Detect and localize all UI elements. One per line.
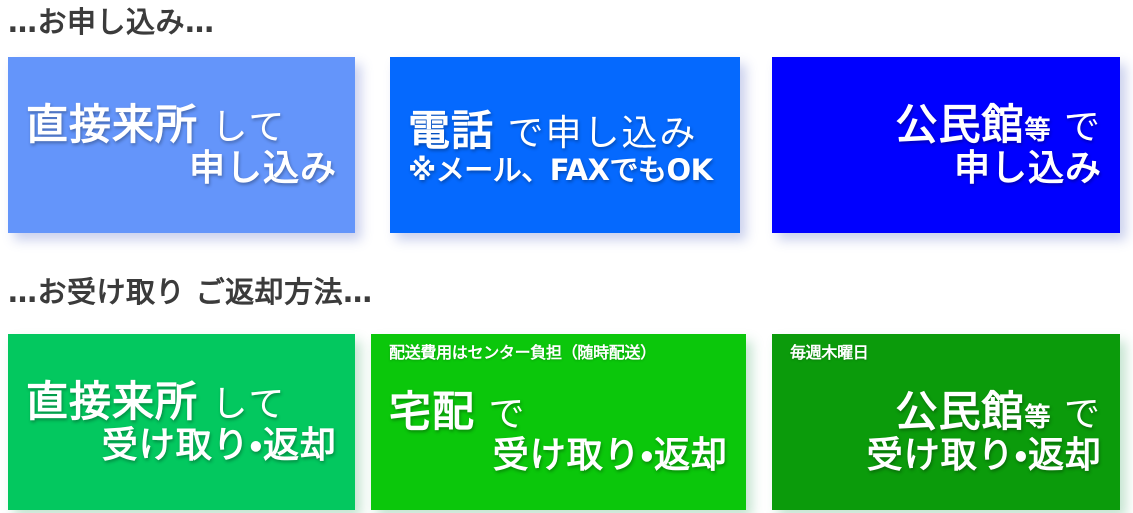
card-text-block: 電話 で申し込み ※メール、FAXでもOK	[408, 107, 722, 187]
card-line-primary-rest: で	[1051, 394, 1102, 435]
card-line-secondary: 受け取り・返却	[790, 436, 1102, 476]
card-line-primary-rest: で	[475, 394, 526, 435]
card-line-primary-rest: して	[198, 107, 286, 148]
card-keyword: 直接来所	[26, 377, 198, 426]
card-keyword: 公民館	[896, 100, 1025, 149]
infographic-page: …お申し込み… 直接来所 して 申し込み 電話 で申し込み ※メール、FAXでも…	[0, 0, 1133, 513]
card-line-primary-rest: して	[198, 384, 286, 425]
card-note: 毎週木曜日	[790, 345, 1110, 361]
card-line-secondary: 受け取り・返却	[389, 436, 728, 476]
card-text-block: 直接来所 して 申し込み	[26, 101, 337, 189]
card-row-return: 直接来所 して 受け取り・返却 配送費用はセンター負担（随時配送） 宅配 で 受…	[0, 334, 1133, 510]
card-apply-phone[interactable]: 電話 で申し込み ※メール、FAXでもOK	[390, 57, 740, 233]
card-keyword: 公民館	[896, 387, 1025, 436]
card-text-block: 宅配 で 受け取り・返却	[389, 388, 728, 476]
card-apply-community-hall[interactable]: 公民館等 で 申し込み	[772, 57, 1120, 233]
card-line-primary: 直接来所 して	[26, 378, 337, 425]
card-keyword: 宅配	[389, 387, 475, 436]
card-row-application: 直接来所 して 申し込み 電話 で申し込み ※メール、FAXでもOK 公民館等 …	[0, 57, 1133, 233]
card-return-community-hall[interactable]: 毎週木曜日 公民館等 で 受け取り・返却	[772, 334, 1120, 510]
card-line-secondary: 受け取り・返却	[26, 426, 337, 466]
section-heading-application: …お申し込み…	[8, 8, 215, 37]
card-line-primary: 電話 で申し込み	[408, 107, 722, 154]
card-text-block: 公民館等 で 申し込み	[790, 101, 1102, 189]
card-line-primary-rest: で申し込み	[494, 113, 697, 154]
card-keyword: 電話	[408, 106, 494, 155]
card-line-primary-rest: で	[1051, 107, 1102, 148]
card-line-secondary: 申し込み	[790, 149, 1102, 189]
card-keyword: 直接来所	[26, 100, 198, 149]
card-note: 配送費用はセンター負担（随時配送）	[389, 345, 736, 361]
card-keyword-suffix: 等	[1025, 403, 1051, 433]
section-heading-return: …お受け取り ご返却方法…	[8, 278, 373, 307]
card-line-primary: 公民館等 で	[790, 388, 1102, 435]
card-line-secondary: 申し込み	[26, 149, 337, 189]
card-apply-direct-visit[interactable]: 直接来所 して 申し込み	[8, 57, 355, 233]
card-return-home-delivery[interactable]: 配送費用はセンター負担（随時配送） 宅配 で 受け取り・返却	[371, 334, 746, 510]
card-line-subnote: ※メール、FAXでもOK	[408, 154, 722, 186]
card-line-primary: 宅配 で	[389, 388, 728, 435]
card-keyword-suffix: 等	[1025, 116, 1051, 146]
card-return-direct-visit[interactable]: 直接来所 して 受け取り・返却	[8, 334, 355, 510]
card-line-primary: 公民館等 で	[790, 101, 1102, 148]
card-text-block: 公民館等 で 受け取り・返却	[790, 388, 1102, 476]
card-text-block: 直接来所 して 受け取り・返却	[26, 378, 337, 466]
card-line-primary: 直接来所 して	[26, 101, 337, 148]
